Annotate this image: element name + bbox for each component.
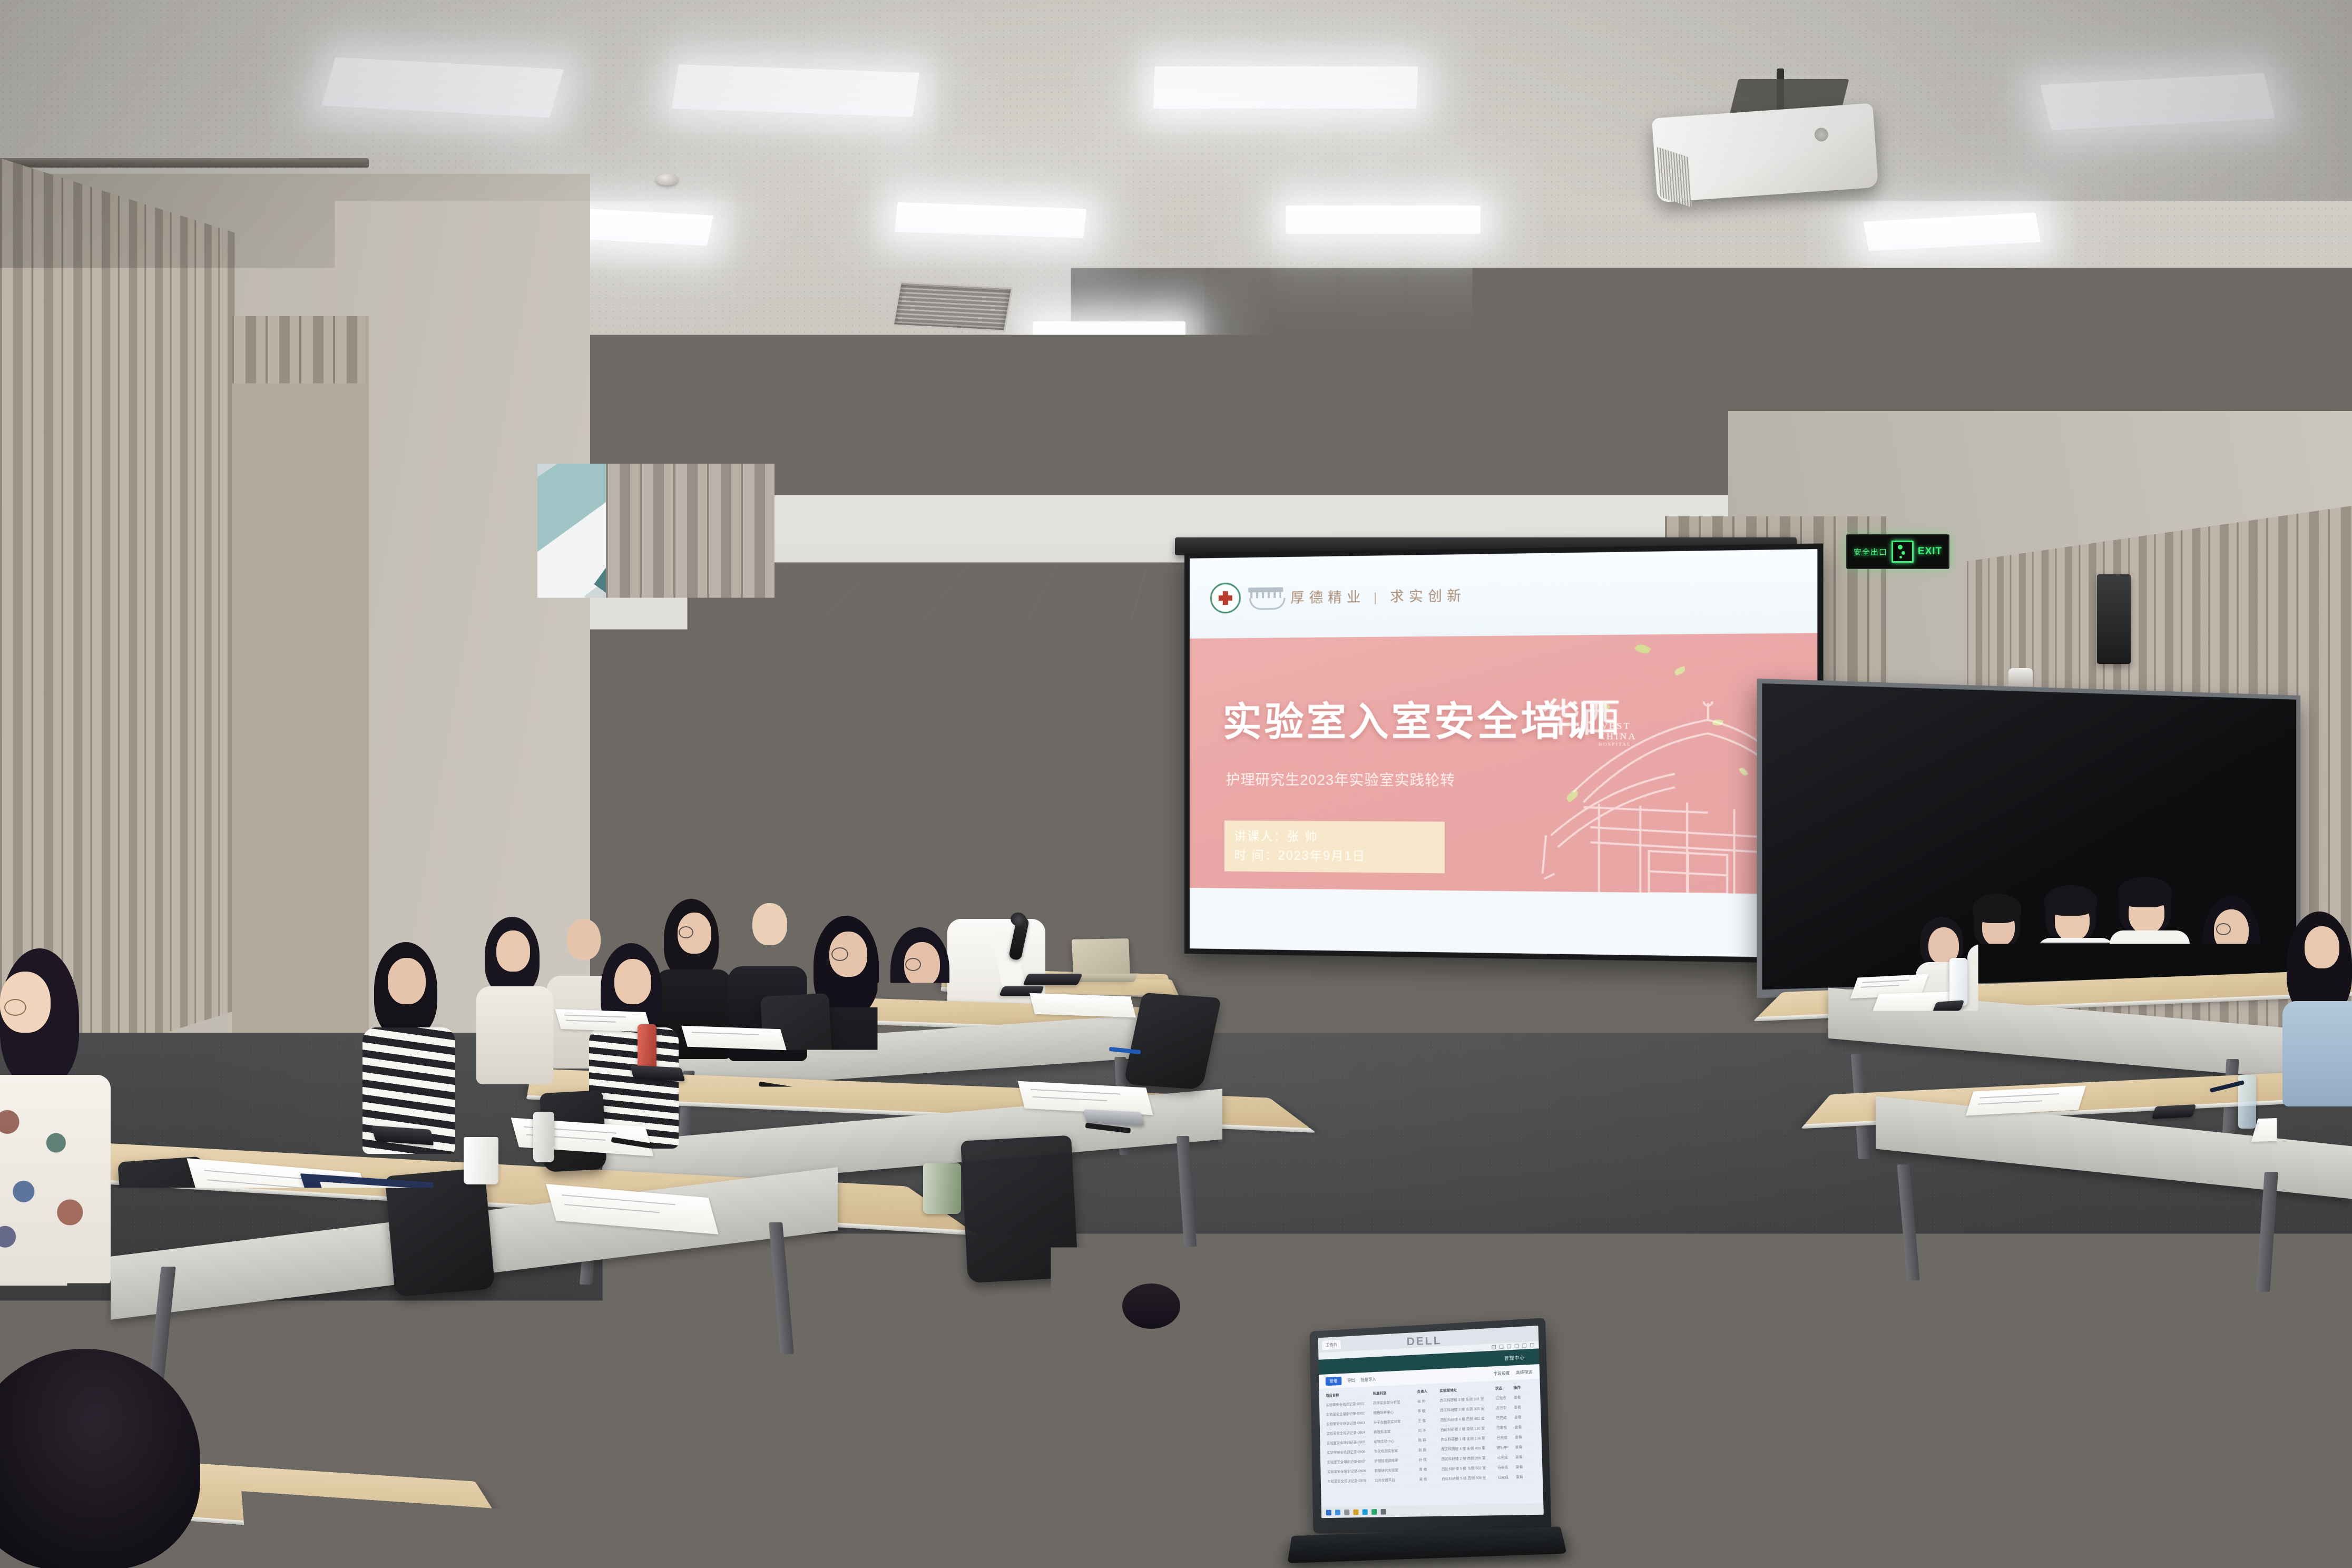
column-header: 实验室地址 xyxy=(1439,1386,1492,1394)
cell-owner: 李 敏 xyxy=(1417,1408,1437,1414)
presenter-laptop[interactable] xyxy=(1072,938,1130,977)
column-header: 项目名称 xyxy=(1326,1391,1370,1398)
handout-paper[interactable] xyxy=(1993,999,2101,1024)
backpack-pocket xyxy=(851,1445,912,1479)
folder-icon[interactable] xyxy=(1353,1509,1358,1515)
air-vent-diffuser xyxy=(2041,292,2157,339)
smartphone[interactable] xyxy=(630,1065,685,1082)
browser-icon[interactable] xyxy=(1363,1509,1368,1515)
refresh-icon[interactable] xyxy=(1500,1345,1504,1349)
cell-status: 已完成 xyxy=(1495,1395,1511,1401)
meeting-room-scene: 安全出口 EXIT 厚德精业 | 求实创新 xyxy=(0,0,2352,1568)
cell-action[interactable]: 查看 xyxy=(1514,1394,1533,1400)
west-china-gate-logo-icon xyxy=(1248,585,1283,610)
windows-taskbar[interactable] xyxy=(1321,1503,1544,1518)
cell-owner: 赵 磊 xyxy=(1418,1447,1438,1453)
cell-action[interactable]: 查看 xyxy=(1515,1444,1534,1450)
exit-sign-english-label: EXIT xyxy=(1918,546,1942,557)
projector-lens-icon xyxy=(1814,128,1829,142)
smartphone[interactable] xyxy=(2105,1026,2140,1036)
office-chair[interactable] xyxy=(961,1135,1079,1283)
extensions-icon[interactable] xyxy=(1515,1344,1519,1348)
cell-owner: 孙 悦 xyxy=(1419,1457,1438,1463)
sprinkler-head-icon xyxy=(1612,350,1621,358)
fire-hydrant-chinese-label: 消火栓 xyxy=(896,809,962,829)
slide-subtitle: 护理研究生2023年实验室实践轮转 xyxy=(1226,768,1455,789)
slide-header-band: 厚德精业 | 求实创新 xyxy=(1190,549,1817,639)
laptop-screen[interactable]: 工作台 管理中心 新增 导出 批量导入 xyxy=(1318,1326,1544,1518)
laptop-lid: 工作台 管理中心 新增 导出 批量导入 xyxy=(1310,1318,1552,1533)
air-vent-diffuser xyxy=(609,391,684,418)
app-header-label: 管理中心 xyxy=(1504,1354,1525,1361)
explorer-icon[interactable] xyxy=(1344,1510,1349,1515)
wall-speaker xyxy=(786,581,823,665)
cell-project: 实验室安全培训记录-0908 xyxy=(1327,1468,1371,1475)
cell-department: 影像研究实验室 xyxy=(1375,1467,1416,1474)
slide-body: 华西 WEST CHINA HOSPITAL 实验室入室安全培训 护理研究生20… xyxy=(1190,633,1817,895)
cell-status: 已完成 xyxy=(1496,1435,1512,1440)
menu-icon[interactable] xyxy=(1530,1343,1534,1347)
cell-department: 公共仪器平台 xyxy=(1375,1477,1416,1483)
cell-address: 西区科研楼 1 楼 北侧 108 室 xyxy=(1441,1435,1494,1442)
cell-action[interactable]: 查看 xyxy=(1516,1474,1535,1480)
ceiling-light-panel xyxy=(672,64,920,117)
profile-icon[interactable] xyxy=(1522,1344,1526,1348)
cell-project: 实验室安全培训记录-0903 xyxy=(1326,1420,1370,1427)
thermos-tumbler[interactable] xyxy=(1949,958,1967,1006)
wall-ptz-camera xyxy=(1043,580,1101,638)
column-header: 所属科室 xyxy=(1373,1389,1415,1396)
advanced-filter-link[interactable]: 高级筛选 xyxy=(1516,1369,1533,1375)
handout-paper[interactable] xyxy=(1030,993,1136,1018)
ceiling-light-panel xyxy=(1153,66,1418,109)
cell-owner: 刘 洋 xyxy=(1418,1427,1437,1433)
cell-address: 西区科研楼 5 楼 西侧 508 室 xyxy=(1442,1475,1494,1482)
slide-info-box: 讲课人：张 帅 时 间：2023年9月1日 xyxy=(1224,821,1445,873)
cell-owner: 周 楠 xyxy=(1419,1467,1438,1473)
thermos-tumbler[interactable] xyxy=(638,1024,656,1072)
cell-department: 动物实验中心 xyxy=(1374,1438,1416,1444)
chair-column xyxy=(821,1433,831,1502)
cell-status: 进行中 xyxy=(1496,1405,1511,1411)
slide-date-line: 时 间：2023年9月1日 xyxy=(1234,846,1435,867)
export-button[interactable]: 导出 xyxy=(1347,1377,1355,1383)
handout-paper[interactable] xyxy=(681,1026,787,1050)
column-header: 操作 xyxy=(1513,1384,1533,1390)
cell-status: 待审核 xyxy=(1497,1465,1513,1471)
cell-department: 病理标本室 xyxy=(1374,1428,1415,1435)
app-icon[interactable] xyxy=(1380,1508,1386,1514)
cell-owner: 张 帅 xyxy=(1417,1398,1437,1404)
curtain-rail xyxy=(0,158,369,168)
bulk-import-link[interactable]: 批量导入 xyxy=(1360,1376,1376,1383)
column-header: 负责人 xyxy=(1417,1388,1437,1394)
cell-project: 实验室安全培训记录-0904 xyxy=(1327,1430,1371,1436)
cell-owner: 王 强 xyxy=(1418,1418,1437,1424)
shirt-collar xyxy=(270,1008,325,1032)
search-icon[interactable] xyxy=(1335,1510,1340,1515)
browser-tab[interactable]: 工作台 xyxy=(1322,1339,1341,1350)
shirt-pattern xyxy=(0,1091,100,1265)
cell-department: 分子生物学实验室 xyxy=(1374,1418,1415,1425)
smoke-detector-icon xyxy=(656,174,678,185)
fire-alarm-bell-icon xyxy=(1070,669,1094,693)
cell-project: 实验室安全培训记录-0909 xyxy=(1327,1478,1372,1484)
wall-speaker xyxy=(2097,574,2131,664)
cell-action[interactable]: 查看 xyxy=(1514,1414,1534,1420)
add-record-button[interactable]: 新增 xyxy=(1326,1376,1342,1386)
cell-status: 已完成 xyxy=(1496,1415,1511,1421)
laptop-brand-logo: DELL xyxy=(1406,1335,1442,1348)
presentation-slide: 厚德精业 | 求实创新 xyxy=(1190,549,1817,958)
office-chair[interactable] xyxy=(780,1121,917,1288)
hospital-emblem-icon xyxy=(1210,582,1241,613)
cell-address: 西区科研楼 4 楼 东侧 408 室 xyxy=(1441,1445,1494,1452)
smartphone[interactable] xyxy=(2152,1104,2197,1119)
cell-project: 实验室安全培训记录-0907 xyxy=(1327,1459,1371,1465)
beige-backpack[interactable] xyxy=(835,1346,975,1521)
cell-status: 已完成 xyxy=(1497,1455,1512,1461)
yellow-cup[interactable] xyxy=(736,1513,765,1568)
fire-hydrant-english-label: FIRE HYDRANT xyxy=(896,830,962,837)
ceiling-projector xyxy=(1652,103,1878,203)
cell-action[interactable]: 查看 xyxy=(1515,1454,1535,1460)
projector-vent xyxy=(1657,147,1692,208)
slide-title: 实验室入室安全培训 xyxy=(1223,689,1609,747)
handout-paper[interactable] xyxy=(555,1009,652,1032)
antenna-icon xyxy=(818,690,822,731)
cell-address: 西区科研楼 2 楼 西侧 206 室 xyxy=(1441,1455,1494,1462)
cell-project: 实验室安全培训记录-0905 xyxy=(1327,1439,1371,1446)
thermos-tumbler[interactable] xyxy=(923,1163,961,1214)
thermos-tumbler[interactable] xyxy=(533,1112,554,1162)
cell-department: 生化检测实验室 xyxy=(1374,1448,1416,1454)
cell-status: 已完成 xyxy=(1497,1475,1513,1481)
projection-screen: 厚德精业 | 求实创新 xyxy=(1184,543,1823,963)
cell-project: 实验室安全培训记录-0901 xyxy=(1326,1401,1370,1408)
records-table[interactable]: 项目名称 所属科室 负责人 实验室地址 状态 操作 实验室安全培训记录-0901… xyxy=(1319,1379,1543,1487)
foreground-attendee-back-of-head xyxy=(1001,1301,1296,1568)
sprinkler-head-icon xyxy=(1163,369,1172,377)
cell-address: 西区科研楼 4 楼 西侧 402 室 xyxy=(1440,1416,1493,1423)
cell-action[interactable]: 查看 xyxy=(1515,1434,1534,1440)
paper-cup[interactable] xyxy=(464,1137,498,1184)
air-vent-diffuser xyxy=(893,281,1013,331)
cell-action[interactable]: 查看 xyxy=(1516,1464,1535,1470)
window-curtain[interactable] xyxy=(0,158,236,1085)
cell-address: 西区科研楼 3 楼 东侧 301 室 xyxy=(1440,1396,1493,1403)
running-man-icon xyxy=(1892,541,1914,563)
ceiling-light-panel xyxy=(1033,321,1185,344)
fire-hydrant-sign: 消火栓 FIRE HYDRANT xyxy=(888,805,970,841)
backpack-zipper xyxy=(852,1369,924,1390)
wechat-icon[interactable] xyxy=(1371,1509,1377,1515)
field-settings-link[interactable]: 字段设置 xyxy=(1493,1370,1510,1376)
cell-project: 实验室安全培训记录-0906 xyxy=(1327,1449,1371,1455)
cell-address: 西区科研楼 3 楼 东侧 305 室 xyxy=(1440,1406,1493,1413)
cell-address: 西区科研楼 5 楼 东侧 502 室 xyxy=(1442,1465,1494,1472)
cell-owner: 陈 静 xyxy=(1418,1437,1438,1443)
bookmark-icon[interactable] xyxy=(1492,1345,1496,1349)
exit-sign-chinese-label: 安全出口 xyxy=(1854,546,1887,557)
hair-bun xyxy=(1122,1283,1180,1329)
hair-scrunchie xyxy=(260,895,298,922)
cell-action[interactable]: 查看 xyxy=(1514,1404,1533,1410)
slide-speaker-line: 讲课人：张 帅 xyxy=(1234,827,1435,847)
foreground-laptop[interactable]: 工作台 管理中心 新增 导出 批量导入 xyxy=(1292,1317,1564,1568)
slide-footer-band xyxy=(1190,888,1817,958)
exit-sign: 安全出口 EXIT xyxy=(1846,534,1949,569)
microphone-case[interactable] xyxy=(1023,974,1083,985)
cell-action[interactable]: 查看 xyxy=(1514,1424,1534,1430)
cell-department: 细胞培养中心 xyxy=(1373,1409,1415,1416)
smoke-detector-icon xyxy=(1531,399,1549,409)
download-icon[interactable] xyxy=(1507,1344,1511,1348)
cell-status: 进行中 xyxy=(1497,1445,1512,1451)
ceiling-light-panel xyxy=(1286,205,1481,234)
slide-motto: 厚德精业 | 求实创新 xyxy=(1290,585,1466,607)
start-icon[interactable] xyxy=(1326,1510,1331,1515)
cell-status: 待审核 xyxy=(1496,1425,1512,1430)
cell-department: 护理技能训练室 xyxy=(1374,1457,1416,1464)
column-header: 状态 xyxy=(1495,1385,1511,1391)
handout-paper[interactable] xyxy=(2251,1115,2352,1142)
cell-owner: 吴 佳 xyxy=(1419,1476,1438,1482)
cell-department: 药学实验室分析室 xyxy=(1373,1399,1415,1406)
cell-address: 西区科研楼 2 楼 南侧 210 室 xyxy=(1440,1426,1493,1433)
cell-project: 实验室安全培训记录-0902 xyxy=(1326,1410,1370,1417)
